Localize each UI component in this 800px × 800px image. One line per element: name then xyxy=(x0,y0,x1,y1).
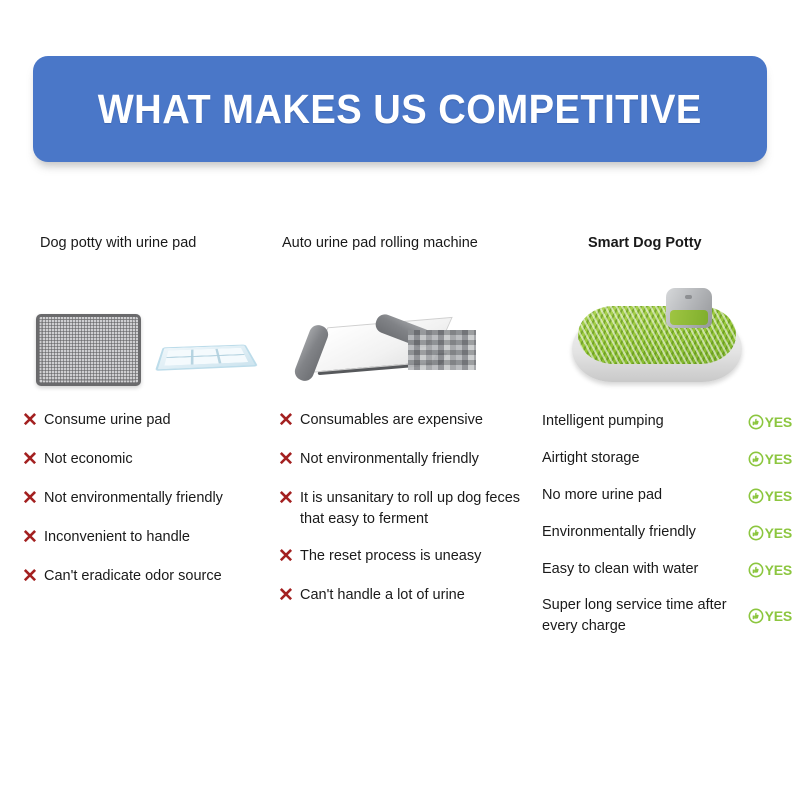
list-item: ✕ It is unsanitary to roll up dog feces … xyxy=(278,488,540,530)
yes-label: YES xyxy=(765,451,792,467)
list-item: ✕ Can't eradicate odor source xyxy=(22,566,280,589)
list-item: No more urine pad YES xyxy=(542,484,792,507)
x-icon: ✕ xyxy=(278,488,300,509)
x-icon: ✕ xyxy=(22,527,44,548)
x-icon: ✕ xyxy=(22,449,44,470)
potty-grass-surface xyxy=(578,306,736,364)
yes-badge: YES xyxy=(748,562,792,578)
list-item: ✕ Consume urine pad xyxy=(22,410,280,433)
list-item: ✕ Not environmentally friendly xyxy=(22,488,280,511)
x-icon: ✕ xyxy=(278,546,300,567)
feature-text: Can't eradicate odor source xyxy=(44,566,222,587)
feature-text: The reset process is uneasy xyxy=(300,546,481,567)
x-icon: ✕ xyxy=(278,449,300,470)
feature-text: Inconvenient to handle xyxy=(44,527,190,548)
feature-text: Not environmentally friendly xyxy=(300,449,479,470)
comparison-column-smart-dog-potty: Smart Dog Potty Intelligent pumping xyxy=(542,232,792,388)
feature-text: Not economic xyxy=(44,449,133,470)
potty-pump-unit xyxy=(666,288,712,328)
yes-badge: YES xyxy=(748,608,792,624)
list-item: ✕ Not economic xyxy=(22,449,280,472)
yes-label: YES xyxy=(765,562,792,578)
yes-badge: YES xyxy=(748,488,792,504)
list-item: Easy to clean with water YES xyxy=(542,558,792,581)
list-item: Environmentally friendly YES xyxy=(542,521,792,544)
thumbs-up-circle-icon xyxy=(748,414,764,430)
page-title: WHAT MAKES US COMPETITIVE xyxy=(98,86,702,133)
feature-list: ✕ Consume urine pad ✕ Not economic ✕ Not… xyxy=(22,410,280,605)
x-icon: ✕ xyxy=(278,410,300,431)
feature-text: Intelligent pumping xyxy=(542,411,670,432)
urine-pad-icon xyxy=(155,345,258,371)
header-banner: WHAT MAKES US COMPETITIVE xyxy=(33,56,767,162)
feature-text: No more urine pad xyxy=(542,485,668,506)
smart-dog-potty-icon xyxy=(566,286,750,386)
comparison-column-dog-potty-with-urine-pad: Dog potty with urine pad ✕ Consume urine… xyxy=(22,232,280,388)
rolling-machine-icon xyxy=(296,296,492,382)
list-item: Airtight storage YES xyxy=(542,447,792,470)
x-icon: ✕ xyxy=(278,585,300,606)
product-image-dog-potty-mesh-tray-and-urine-pad xyxy=(22,260,280,388)
feature-text: Not environmentally friendly xyxy=(44,488,223,509)
thumbs-up-circle-icon xyxy=(748,525,764,541)
thumbs-up-circle-icon xyxy=(748,562,764,578)
feature-text: Consumables are expensive xyxy=(300,410,483,431)
yes-label: YES xyxy=(765,608,792,624)
feature-text: Super long service time after every char… xyxy=(542,595,748,637)
yes-badge: YES xyxy=(748,414,792,430)
product-image-auto-urine-pad-rolling-machine xyxy=(278,260,540,388)
x-icon: ✕ xyxy=(22,566,44,587)
feature-text: Environmentally friendly xyxy=(542,522,702,543)
feature-text: Can't handle a lot of urine xyxy=(300,585,465,606)
list-item: Super long service time after every char… xyxy=(542,595,792,637)
feature-text: Airtight storage xyxy=(542,448,646,469)
yes-badge: YES xyxy=(748,451,792,467)
yes-label: YES xyxy=(765,488,792,504)
column-heading: Auto urine pad rolling machine xyxy=(278,232,540,254)
x-icon: ✕ xyxy=(22,410,44,431)
yes-badge: YES xyxy=(748,525,792,541)
list-item: ✕ Not environmentally friendly xyxy=(278,449,540,472)
thumbs-up-circle-icon xyxy=(748,451,764,467)
feature-list: Intelligent pumping YES Airtight storage xyxy=(542,410,792,651)
list-item: Intelligent pumping YES xyxy=(542,410,792,433)
mesh-tray-icon xyxy=(36,314,141,386)
feature-text: Consume urine pad xyxy=(44,410,171,431)
column-heading: Smart Dog Potty xyxy=(542,232,792,254)
feature-text: Easy to clean with water xyxy=(542,559,704,580)
column-heading: Dog potty with urine pad xyxy=(22,232,280,254)
yes-label: YES xyxy=(765,525,792,541)
feature-text: It is unsanitary to roll up dog feces th… xyxy=(300,488,540,530)
list-item: ✕ Consumables are expensive xyxy=(278,410,540,433)
thumbs-up-circle-icon xyxy=(748,608,764,624)
x-icon: ✕ xyxy=(22,488,44,509)
yes-label: YES xyxy=(765,414,792,430)
feature-list: ✕ Consumables are expensive ✕ Not enviro… xyxy=(278,410,540,624)
pixelated-blur-region xyxy=(408,330,476,370)
comparison-column-auto-urine-pad-rolling-machine: Auto urine pad rolling machine ✕ Consuma… xyxy=(278,232,540,388)
list-item: ✕ The reset process is uneasy xyxy=(278,546,540,569)
thumbs-up-circle-icon xyxy=(748,488,764,504)
list-item: ✕ Can't handle a lot of urine xyxy=(278,585,540,608)
potty-unit-indicator xyxy=(685,295,692,299)
list-item: ✕ Inconvenient to handle xyxy=(22,527,280,550)
product-image-smart-dog-potty xyxy=(542,260,792,388)
